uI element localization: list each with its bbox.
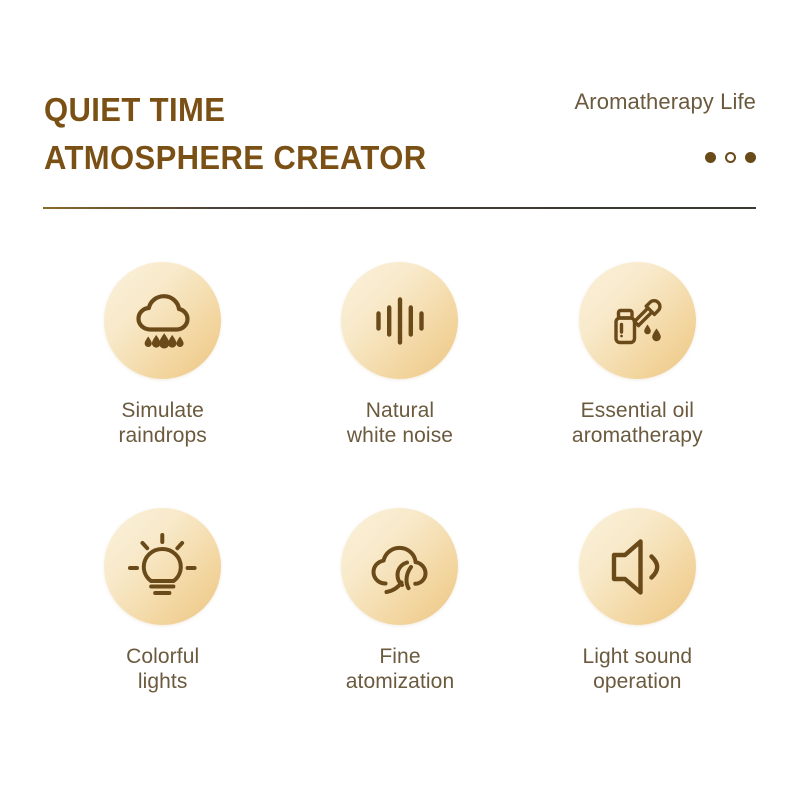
feature-caption: Simulate raindrops <box>118 398 206 448</box>
feature-caption: Natural white noise <box>347 398 453 448</box>
icon-badge <box>104 262 221 379</box>
header-divider <box>43 207 756 209</box>
feature-caption-line-1: Colorful <box>126 644 199 669</box>
feature-item[interactable]: Essential oil aromatherapy <box>519 262 756 448</box>
feature-caption-line-2: white noise <box>347 423 453 448</box>
icon-badge <box>579 508 696 625</box>
speaker-volume-icon <box>601 531 673 603</box>
pager-dots <box>705 152 756 163</box>
promo-feature-page: QUIET TIME ATMOSPHERE CREATOR Aromathera… <box>0 0 800 807</box>
page-title-line-1: QUIET TIME <box>44 86 426 134</box>
feature-caption-line-2: operation <box>582 669 692 694</box>
feature-caption-line-2: aromatherapy <box>572 423 703 448</box>
page-title: QUIET TIME ATMOSPHERE CREATOR <box>44 86 451 182</box>
lightbulb-icon <box>127 531 199 603</box>
feature-caption-line-1: Natural <box>347 398 453 423</box>
oil-dropper-bottle-icon <box>601 285 673 357</box>
feature-grid: Simulate raindrops <box>44 262 756 694</box>
brand-label: Aromatherapy Life <box>575 88 756 116</box>
feature-item[interactable]: Colorful lights <box>44 508 281 694</box>
feature-item[interactable]: Light sound operation <box>519 508 756 694</box>
feature-caption: Light sound operation <box>582 644 692 694</box>
feature-caption: Essential oil aromatherapy <box>572 398 703 448</box>
sound-wave-icon <box>364 285 436 357</box>
feature-caption-line-1: Simulate <box>118 398 206 423</box>
feature-caption-line-1: Essential oil <box>572 398 703 423</box>
page-title-line-2: ATMOSPHERE CREATOR <box>44 134 426 182</box>
feature-item[interactable]: Natural white noise <box>281 262 518 448</box>
feature-caption-line-2: raindrops <box>118 423 206 448</box>
icon-badge <box>104 508 221 625</box>
icon-badge <box>341 508 458 625</box>
feature-caption-line-1: Light sound <box>582 644 692 669</box>
pager-dot-1[interactable] <box>705 152 716 163</box>
feature-item[interactable]: Simulate raindrops <box>44 262 281 448</box>
icon-badge <box>579 262 696 379</box>
page-header: QUIET TIME ATMOSPHERE CREATOR Aromathera… <box>0 0 800 215</box>
pager-dot-2[interactable] <box>725 152 736 163</box>
icon-badge <box>341 262 458 379</box>
pager-dot-3[interactable] <box>745 152 756 163</box>
feature-item[interactable]: Fine atomization <box>281 508 518 694</box>
feature-caption-line-2: lights <box>126 669 199 694</box>
feature-caption: Fine atomization <box>346 644 455 694</box>
feature-caption: Colorful lights <box>126 644 199 694</box>
mist-cloud-icon <box>364 531 436 603</box>
feature-caption-line-2: atomization <box>346 669 455 694</box>
feature-caption-line-1: Fine <box>346 644 455 669</box>
rain-cloud-icon <box>127 285 199 357</box>
